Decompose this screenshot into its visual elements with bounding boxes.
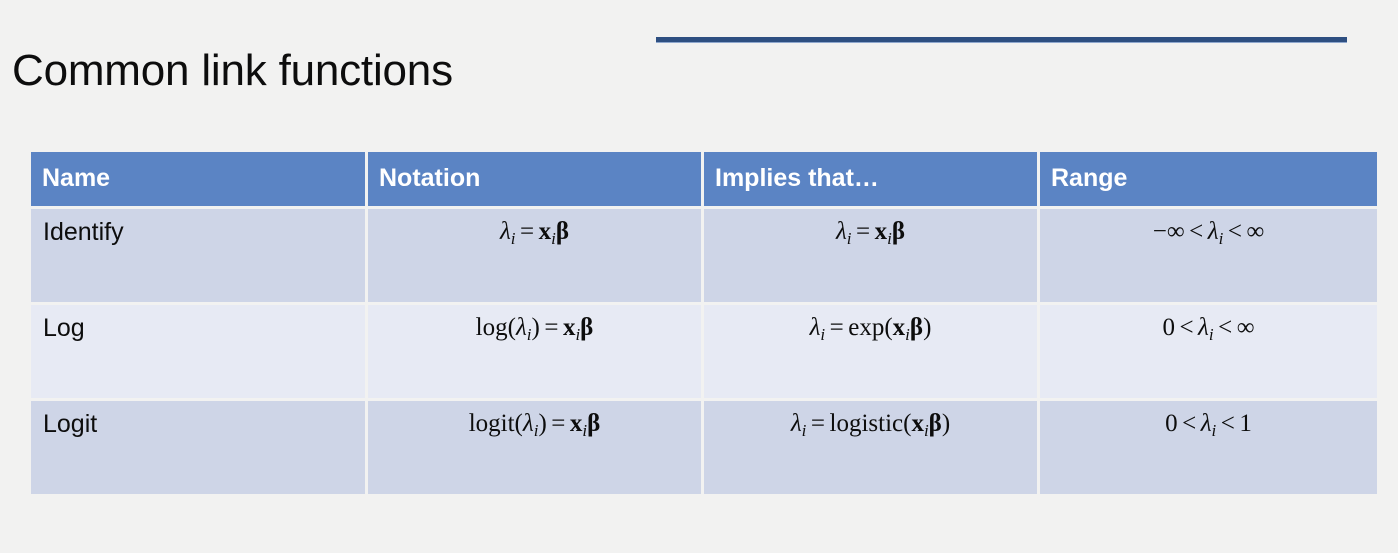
cell-name: Logit: [31, 401, 368, 494]
table-row: Logit logit(λi)=xiβ λi=logistic(xiβ) 0<λ…: [31, 401, 1377, 494]
column-header-range[interactable]: Range: [1040, 152, 1377, 209]
cell-notation: logit(λi)=xiβ: [368, 401, 704, 494]
table-header-row: Name Notation Implies that… Range: [31, 152, 1377, 209]
cell-implies: λi=logistic(xiβ): [704, 401, 1040, 494]
cell-name: Identify: [31, 209, 368, 305]
cell-notation: λi=xiβ: [368, 209, 704, 305]
table-row: Identify λi=xiβ λi=xiβ −∞<λi<∞: [31, 209, 1377, 305]
cell-implies: λi=xiβ: [704, 209, 1040, 305]
column-header-notation[interactable]: Notation: [368, 152, 704, 209]
cell-implies: λi=exp(xiβ): [704, 305, 1040, 401]
table-row: Log log(λi)=xiβ λi=exp(xiβ) 0<λi<∞: [31, 305, 1377, 401]
link-functions-table: Name Notation Implies that… Range Identi…: [31, 152, 1377, 494]
cell-range: 0<λi<1: [1040, 401, 1377, 494]
cell-name: Log: [31, 305, 368, 401]
cell-range: 0<λi<∞: [1040, 305, 1377, 401]
cell-range: −∞<λi<∞: [1040, 209, 1377, 305]
cell-notation: log(λi)=xiβ: [368, 305, 704, 401]
page-title: Common link functions: [12, 46, 453, 97]
column-header-implies[interactable]: Implies that…: [704, 152, 1040, 209]
column-header-name[interactable]: Name: [31, 152, 368, 209]
title-accent-rule: [656, 37, 1347, 43]
